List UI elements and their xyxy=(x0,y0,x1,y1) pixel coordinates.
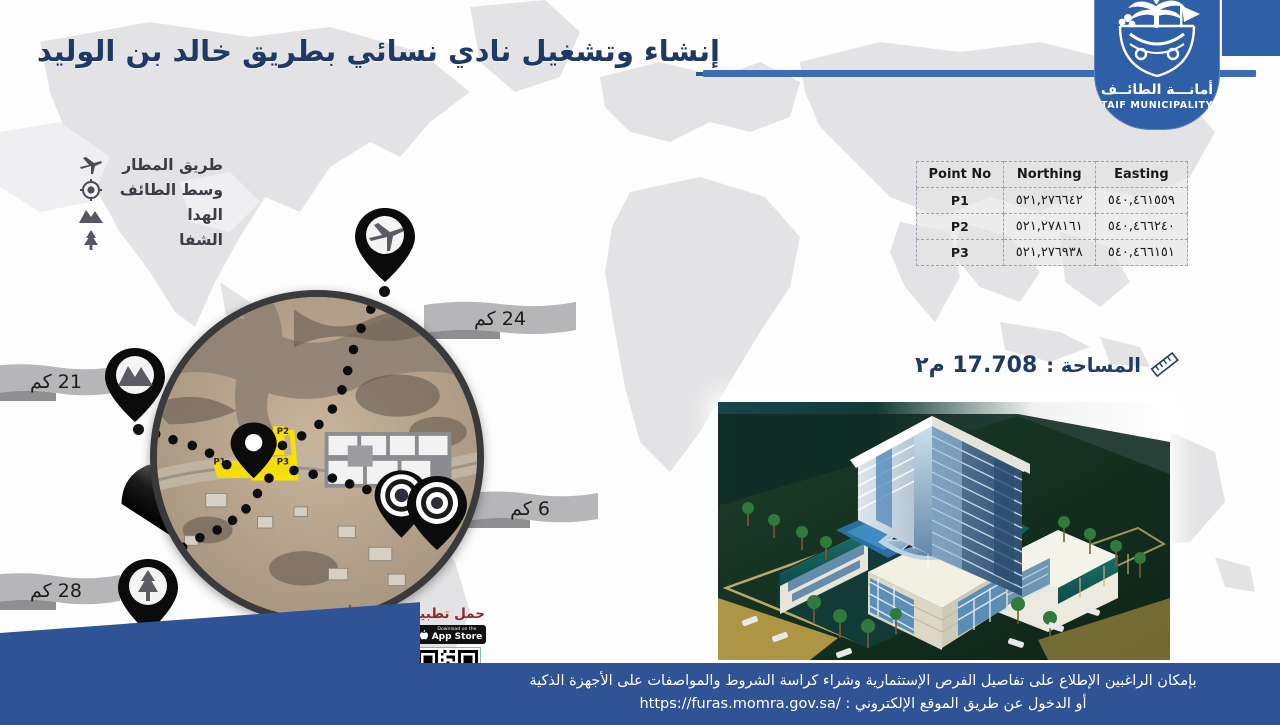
distance-ribbon-center: 6 كم xyxy=(462,489,598,529)
table-row: P1 ٥٢١,٢٧٦٦٤٢ ٥٤٠,٤٦١٥٥٩ xyxy=(917,188,1188,214)
area-value: 17.708 م٢ xyxy=(915,353,1037,378)
cell-easting: ٥٤٠,٤٦٦١٥١ xyxy=(1095,240,1187,266)
footer-line-1: بإمكان الراغبين الإطلاع على تفاصيل الفرص… xyxy=(468,670,1258,692)
map-pin-taif-center xyxy=(404,474,470,556)
footer-bar: بإمكان الراغبين الإطلاع على تفاصيل الفرص… xyxy=(0,663,1280,725)
app-store-badge[interactable]: Download on the App Store xyxy=(415,625,487,644)
target-pin-icon xyxy=(404,474,470,556)
legend-item-airport-road: طريق المطار xyxy=(78,152,223,177)
tree-icon xyxy=(78,229,104,251)
table-row: P2 ٥٢١,٢٧٨١٦١ ٥٤٠,٤٦٦٢٤٠ xyxy=(917,214,1188,240)
airplane-icon xyxy=(78,154,104,176)
area-info: المساحة : 17.708 م٢ xyxy=(915,352,1180,378)
cell-northing: ٥٢١,٢٧٦٦٤٢ xyxy=(1003,188,1095,214)
apple-icon xyxy=(419,629,429,641)
taif-municipality-logo: أمانـــة الطائــف TAIF MUNICIPALITY xyxy=(1094,0,1220,130)
pin-anchor-dot xyxy=(133,424,144,435)
cell-point: P3 xyxy=(917,240,1004,266)
logo-name-en: TAIF MUNICIPALITY xyxy=(1094,100,1220,111)
map-legend: طريق المطار وسط الطائف الهدا الشفا xyxy=(78,152,223,252)
cell-easting: ٥٤٠,٤٦١٥٥٩ xyxy=(1095,188,1187,214)
legend-label: وسط الطائف xyxy=(111,181,223,199)
col-point-no: Point No xyxy=(917,162,1004,188)
legend-item-taif-center: وسط الطائف xyxy=(78,177,223,202)
coordinates-table: Point No Northing Easting P1 ٥٢١,٢٧٦٦٤٢ … xyxy=(916,161,1188,266)
airplane-pin-icon xyxy=(352,206,418,288)
cell-northing: ٥٢١,٢٧٨١٦١ xyxy=(1003,214,1095,240)
palm-swords-emblem-icon xyxy=(1094,0,1220,84)
legend-label: طريق المطار xyxy=(111,156,223,174)
cell-easting: ٥٤٠,٤٦٦٢٤٠ xyxy=(1095,214,1187,240)
page-title: إنشاء وتشغيل نادي نسائي بطريق خالد بن ال… xyxy=(37,34,720,68)
footer-line-2: أو الدخول عن طريق الموقع الإلكتروني : ht… xyxy=(468,693,1258,715)
legend-label: الهدا xyxy=(111,206,223,224)
table-header-row: Point No Northing Easting xyxy=(917,162,1188,188)
logo-side-strip-blue xyxy=(1222,0,1280,56)
footer-url[interactable]: https://furas.momra.gov.sa/ xyxy=(639,696,840,712)
footer-text: بإمكان الراغبين الإطلاع على تفاصيل الفرص… xyxy=(468,670,1258,715)
map-pin-alhada xyxy=(102,346,168,428)
pin-anchor-dot xyxy=(379,286,390,297)
legend-item-alhada: الهدا xyxy=(78,202,223,227)
map-pin-airport xyxy=(352,206,418,288)
site-satellite-magnifier: P1 P2 P3 xyxy=(150,290,484,624)
legend-label: الشفا xyxy=(111,231,223,249)
cell-northing: ٥٢١,٢٧٦٩٣٨ xyxy=(1003,240,1095,266)
footer-line-2-prefix: أو الدخول عن طريق الموقع الإلكتروني : xyxy=(841,696,1087,712)
plot-point-label: P2 xyxy=(277,427,289,437)
target-icon xyxy=(78,179,104,201)
table-row: P3 ٥٢١,٢٧٦٩٣٨ ٥٤٠,٤٦٦١٥١ xyxy=(917,240,1188,266)
plot-point-label: P3 xyxy=(277,458,289,468)
distance-label: 28 كم xyxy=(30,580,82,602)
cell-point: P1 xyxy=(917,188,1004,214)
building-3d-render-icon xyxy=(718,402,1170,660)
area-label: المساحة : xyxy=(1046,354,1141,377)
app-store-labels: Download on the App Store xyxy=(432,627,483,641)
distance-ribbon-alshafa: 28 كم xyxy=(0,571,120,611)
distance-label: 21 كم xyxy=(30,371,82,393)
cell-point: P2 xyxy=(917,214,1004,240)
distance-label: 24 كم xyxy=(474,308,526,330)
poster-canvas: إنشاء وتشغيل نادي نسائي بطريق خالد بن ال… xyxy=(0,0,1280,725)
col-northing: Northing xyxy=(1003,162,1095,188)
building-render xyxy=(718,402,1170,660)
satellite-imagery: P1 P2 P3 xyxy=(150,290,484,624)
col-easting: Easting xyxy=(1095,162,1187,188)
ruler-icon xyxy=(1150,352,1180,378)
logo-name-ar: أمانـــة الطائــف xyxy=(1094,82,1220,98)
app-store-label: App Store xyxy=(432,633,483,642)
distance-label: 6 كم xyxy=(510,498,550,520)
legend-item-alshafa: الشفا xyxy=(78,227,223,252)
mountain-icon xyxy=(78,204,104,226)
mountain-pin-icon xyxy=(102,346,168,428)
